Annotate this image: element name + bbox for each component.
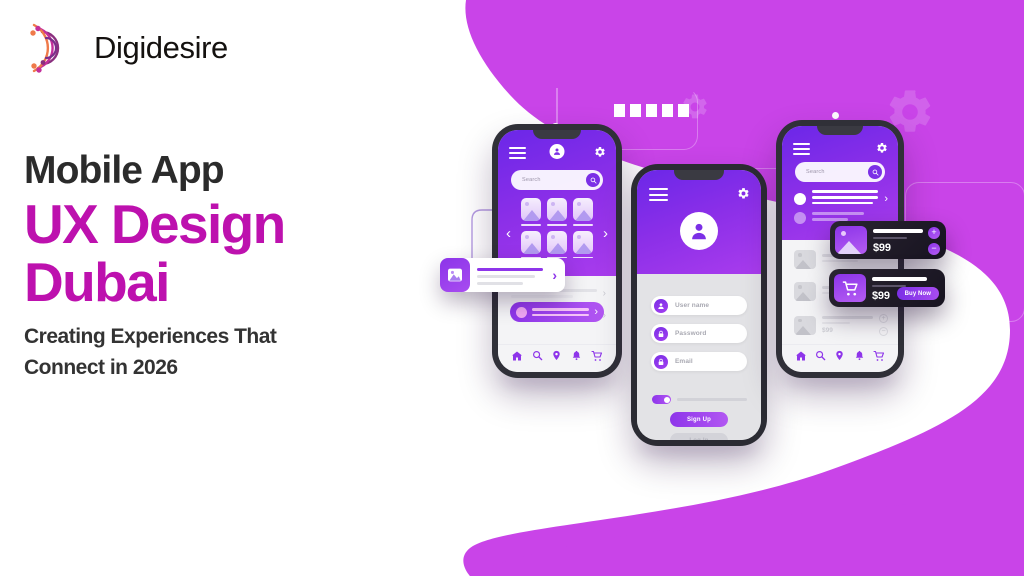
email-field[interactable]: Email xyxy=(651,352,747,371)
image-icon xyxy=(794,250,816,269)
bell-icon[interactable] xyxy=(854,350,865,361)
login-button[interactable]: Log In xyxy=(670,433,728,440)
user-avatar-icon[interactable] xyxy=(550,144,565,159)
product-price: $99 xyxy=(822,327,873,334)
location-pin-icon[interactable] xyxy=(551,350,562,361)
product-row[interactable]: $99 + − xyxy=(794,314,888,336)
bottom-navigation xyxy=(782,344,898,366)
username-field[interactable]: User name xyxy=(651,296,747,315)
image-icon xyxy=(521,198,541,221)
avatar xyxy=(516,307,527,318)
bell-icon[interactable] xyxy=(571,350,582,361)
deco-squares-row xyxy=(614,104,689,117)
phone-notch xyxy=(817,126,863,135)
image-icon xyxy=(794,316,816,335)
brand-logo[interactable]: Digidesire xyxy=(22,18,228,78)
signup-button[interactable]: Sign Up xyxy=(670,412,728,427)
search-icon[interactable] xyxy=(586,173,600,187)
brand-name: Digidesire xyxy=(94,30,228,66)
subheadline-line-1: Creating Experiences That xyxy=(24,321,424,352)
grid-item[interactable] xyxy=(547,198,567,226)
gallery-header: Search ‹ › xyxy=(498,130,616,276)
chevron-right-icon: › xyxy=(552,267,557,283)
quantity-stepper[interactable]: + − xyxy=(928,227,940,255)
grid-item[interactable] xyxy=(521,231,541,259)
decrease-button[interactable]: − xyxy=(928,243,940,255)
home-icon[interactable] xyxy=(511,350,523,362)
terms-text-placeholder xyxy=(677,398,747,401)
cart-icon[interactable] xyxy=(591,350,603,362)
lock-icon xyxy=(654,355,668,369)
phone-notch xyxy=(674,170,724,180)
headline-line-1: Mobile App xyxy=(24,146,424,195)
login-button-label: Log In xyxy=(689,438,708,441)
avatar xyxy=(794,193,806,205)
grid-item[interactable] xyxy=(573,231,593,259)
gear-icon[interactable] xyxy=(737,187,750,200)
digidesire-circuit-d-logo-icon xyxy=(22,18,82,78)
cart-icon[interactable] xyxy=(873,350,885,362)
image-icon xyxy=(547,231,567,254)
gear-icon[interactable] xyxy=(594,146,606,158)
grid-item[interactable] xyxy=(521,198,541,226)
search-icon[interactable] xyxy=(532,350,543,361)
deco-dot xyxy=(832,112,839,119)
hamburger-icon[interactable] xyxy=(793,143,810,155)
poster-canvas: Digidesire Mobile App UX Design Dubai Cr… xyxy=(0,0,1024,576)
headline-line-3: Dubai xyxy=(24,253,424,311)
user-avatar-icon xyxy=(680,212,718,250)
image-icon xyxy=(794,282,816,301)
deco-line xyxy=(556,88,558,126)
bottom-navigation xyxy=(498,344,616,366)
hamburger-icon[interactable] xyxy=(649,188,668,201)
search-icon[interactable] xyxy=(868,165,882,179)
increase-button[interactable]: + xyxy=(928,227,940,239)
gear-icon[interactable] xyxy=(876,142,888,154)
grid-item[interactable] xyxy=(573,198,593,226)
quantity-stepper[interactable]: + − xyxy=(879,314,888,336)
email-placeholder: Email xyxy=(675,358,693,365)
phone-mockup-gallery: Search ‹ › › xyxy=(492,124,622,378)
highlighted-list-item[interactable]: › xyxy=(510,302,604,322)
home-icon[interactable] xyxy=(795,350,807,362)
signup-header xyxy=(637,170,761,274)
search-input[interactable]: Search xyxy=(511,170,603,190)
carousel-next-icon[interactable]: › xyxy=(603,226,608,241)
image-icon xyxy=(547,198,567,221)
image-icon xyxy=(573,231,593,254)
lock-icon xyxy=(654,327,668,341)
product-buy-card[interactable]: $99 Buy Now xyxy=(829,269,945,307)
featured-list-item[interactable]: › xyxy=(794,190,888,207)
cart-icon xyxy=(834,274,866,302)
buy-now-button[interactable]: Buy Now xyxy=(897,287,939,300)
username-placeholder: User name xyxy=(675,302,709,309)
phone-notch xyxy=(533,130,581,139)
password-field[interactable]: Password xyxy=(651,324,747,343)
product-quantity-card[interactable]: $99 + − xyxy=(830,221,946,259)
buy-now-label: Buy Now xyxy=(905,291,931,297)
decrease-button[interactable]: − xyxy=(879,327,888,336)
subheadline-line-2: Connect in 2026 xyxy=(24,352,424,383)
product-price: $99 xyxy=(872,290,890,302)
chevron-right-icon: › xyxy=(603,288,606,299)
search-input[interactable]: Search xyxy=(795,162,885,182)
search-placeholder: Search xyxy=(806,169,825,175)
location-pin-icon[interactable] xyxy=(834,350,845,361)
password-placeholder: Password xyxy=(675,330,707,337)
image-icon xyxy=(573,198,593,221)
user-icon xyxy=(654,299,668,313)
hamburger-icon[interactable] xyxy=(509,147,526,159)
grid-item[interactable] xyxy=(547,231,567,259)
carousel-prev-icon[interactable]: ‹ xyxy=(506,226,511,241)
chevron-right-icon: › xyxy=(884,193,888,205)
image-icon xyxy=(521,231,541,254)
image-grid xyxy=(521,198,593,258)
avatar xyxy=(794,212,806,224)
image-icon xyxy=(835,226,867,254)
gallery-item-card[interactable]: › xyxy=(441,258,565,292)
product-price: $99 xyxy=(873,242,891,254)
search-icon[interactable] xyxy=(815,350,826,361)
image-icon xyxy=(440,258,470,292)
phone-mockup-signup: User name Password Email S xyxy=(631,164,767,446)
search-placeholder: Search xyxy=(522,177,541,183)
deco-squares-column xyxy=(914,336,927,411)
headline-line-2: UX Design xyxy=(24,195,424,253)
chevron-right-icon: › xyxy=(594,306,598,318)
increase-button[interactable]: + xyxy=(879,314,888,323)
headline-block: Mobile App UX Design Dubai Creating Expe… xyxy=(24,146,424,383)
signup-form: User name Password Email S xyxy=(637,274,761,440)
terms-toggle[interactable] xyxy=(652,395,671,404)
signup-button-label: Sign Up xyxy=(687,417,711,423)
